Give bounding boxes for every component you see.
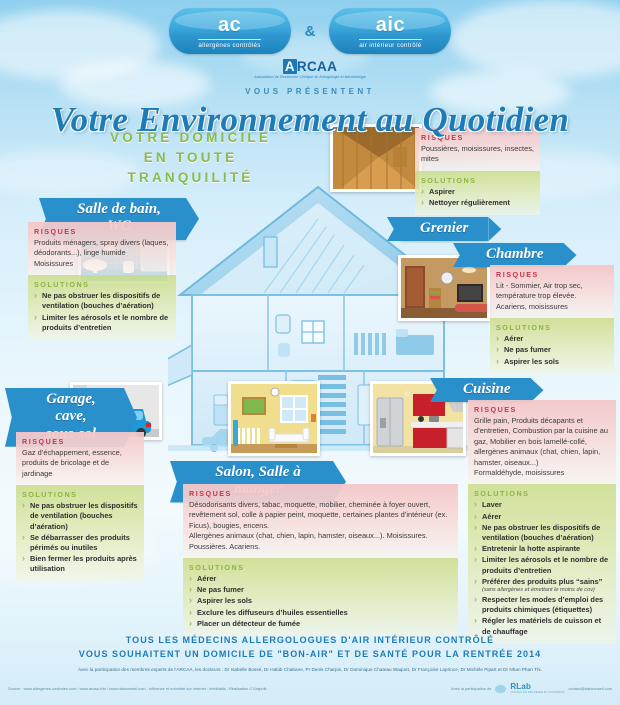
chambre-risks-text-italic: Acariens, moisissures bbox=[496, 302, 608, 312]
section-chambre: RISQUES Lit - Sommier, Air trop sec, tem… bbox=[490, 265, 614, 374]
section-cuisine: RISQUES Grille pain, Produits décapants … bbox=[468, 400, 616, 644]
logo-aic-subtitle: air intérieur contrôlé bbox=[359, 39, 421, 49]
section-cuisine-title: Cuisine bbox=[443, 378, 531, 402]
arcaa-initial: A bbox=[283, 59, 297, 74]
ribbon-tip-right bbox=[531, 378, 544, 402]
page-subtitle-line-1: VOTRE DOMICILE bbox=[110, 128, 271, 148]
solution-text: Aérer bbox=[482, 512, 501, 521]
cuisine-risks-text-italic: Formaldéhyde, moisissures bbox=[474, 468, 610, 478]
solution-text: Aspirer les sols bbox=[504, 357, 559, 366]
list-item: Respecter les modes d’emploi des produit… bbox=[474, 595, 610, 615]
sdb-risks-text-italic: Moisissures bbox=[34, 259, 170, 269]
section-chambre-title: Chambre bbox=[466, 243, 564, 267]
sdb-risks-block: RISQUES Produits ménagers, spray divers … bbox=[28, 222, 176, 275]
cuisine-solutions-list: Laver Aérer Ne pas obstruer les disposit… bbox=[474, 500, 610, 636]
solutions-label: SOLUTIONS bbox=[34, 280, 170, 289]
footer-contact-email[interactable]: contact@rlabconseil.com bbox=[568, 686, 612, 691]
solution-text: Se débarrasser des produits périmés ou i… bbox=[30, 533, 130, 552]
cuisine-solutions-block: SOLUTIONS Laver Aérer Ne pas obstruer le… bbox=[468, 484, 616, 643]
solution-text: Placer un détecteur de fumée bbox=[197, 619, 300, 628]
ampersand: & bbox=[305, 23, 316, 40]
list-item: Aérer bbox=[496, 334, 608, 344]
solution-text: Nettoyer régulièrement bbox=[429, 198, 510, 207]
section-garage: RISQUES Gaz d’échappement, essence, prod… bbox=[16, 432, 144, 582]
footer-rlab: Avec la participation de RLab CONSEIL EN… bbox=[451, 683, 612, 694]
ribbon-cuisine: Cuisine bbox=[443, 378, 531, 402]
solutions-label: SOLUTIONS bbox=[421, 176, 534, 185]
page-subtitle: VOTRE DOMICILE EN TOUTE TRANQUILITÉ bbox=[110, 128, 271, 188]
list-item: Préférer des produits plus “sains”(sans … bbox=[474, 577, 610, 594]
closing-line-1: TOUS LES MÉDECINS ALLERGOLOGUES D'AIR IN… bbox=[18, 633, 602, 647]
cuisine-risks-block: RISQUES Grille pain, Produits décapants … bbox=[468, 400, 616, 484]
solution-text: Ne pas fumer bbox=[504, 345, 551, 354]
arcaa-rest: RCAA bbox=[297, 59, 337, 74]
list-item: Se débarrasser des produits périmés ou i… bbox=[22, 533, 138, 553]
solutions-label: SOLUTIONS bbox=[22, 490, 138, 499]
list-item: Exclure les diffuseurs d’huiles essentie… bbox=[189, 608, 452, 618]
arcaa-wordmark: ARCAA bbox=[0, 59, 620, 74]
list-item: Nettoyer régulièrement bbox=[421, 198, 534, 208]
solution-text: Ne pas obstruer les dispositifs de venti… bbox=[30, 501, 138, 530]
closing-line-2: VOUS SOUHAITENT UN DOMICILE DE "BON-AIR"… bbox=[18, 647, 602, 661]
page-subtitle-line-2: EN TOUTE bbox=[110, 148, 271, 168]
solution-text: Laver bbox=[482, 500, 502, 509]
grenier-risks-text: Poussières, moisissures, insectes, mites bbox=[421, 144, 534, 165]
solution-text: Ne pas fumer bbox=[197, 585, 244, 594]
arcaa-subtitle: Association de Recherche Clinique en All… bbox=[0, 75, 620, 80]
chambre-solutions-block: SOLUTIONS Aérer Ne pas fumer Aspirer les… bbox=[490, 318, 614, 374]
footer-source: Source : www.allergenes-controles.com / … bbox=[8, 686, 267, 691]
solution-text: Aspirer les sols bbox=[197, 596, 252, 605]
list-item: Ne pas obstruer les dispositifs de venti… bbox=[22, 501, 138, 532]
logo-arcaa: ARCAA Association de Recherche Clinique … bbox=[0, 59, 620, 80]
rlab-logo: RLab CONSEIL EN INFLUENCE ET NOTORIÉTÉ bbox=[510, 683, 564, 694]
section-title: Chambre bbox=[486, 246, 544, 262]
salon-solutions-block: SOLUTIONS Aérer Ne pas fumer Aspirer les… bbox=[183, 558, 458, 636]
solution-note: (sans allergènes et émettant le moins de… bbox=[482, 587, 610, 594]
risks-label: RISQUES bbox=[474, 405, 610, 414]
list-item: Aérer bbox=[474, 512, 610, 522]
list-item: Aspirer les sols bbox=[189, 596, 452, 606]
solution-text: Préférer des produits plus “sains” bbox=[482, 577, 602, 586]
list-item: Ne pas fumer bbox=[189, 585, 452, 595]
sdb-risks-text: Produits ménagers, spray divers (laques,… bbox=[34, 238, 170, 259]
ribbon-grenier: Grenier bbox=[400, 217, 488, 241]
solution-text: Entretenir la hotte aspirante bbox=[482, 544, 580, 553]
logo-aic-mark: aic bbox=[376, 15, 405, 35]
sdb-solutions-list: Ne pas obstruer les dispositifs de venti… bbox=[34, 291, 170, 333]
salon-risks-block: RISQUES Désodorisants divers, tabac, moq… bbox=[183, 484, 458, 558]
sdb-solutions-block: SOLUTIONS Ne pas obstruer les dispositif… bbox=[28, 275, 176, 340]
solution-text: Limiter les aérosols et le nombre de pro… bbox=[42, 313, 168, 332]
footer-participation-label: Avec la participation de bbox=[451, 686, 491, 691]
ribbon-tip-right bbox=[564, 243, 577, 267]
list-item: Bien fermer les produits après utilisati… bbox=[22, 554, 138, 574]
salon-risks-text-italic: Allergènes animaux (chat, chien, lapin, … bbox=[189, 531, 452, 552]
solution-text: Bien fermer les produits après utilisati… bbox=[30, 554, 137, 573]
garage-risks-text: Gaz d’échappement, essence, produits de … bbox=[22, 448, 138, 479]
salon-solutions-list: Aérer Ne pas fumer Aspirer les sols Excl… bbox=[189, 574, 452, 629]
page-subtitle-line-3: TRANQUILITÉ bbox=[110, 168, 271, 188]
list-item: Limiter les aérosols et le nombre de pro… bbox=[474, 555, 610, 575]
section-grenier: RISQUES Poussières, moisissures, insecte… bbox=[415, 128, 540, 215]
list-item: Limiter les aérosols et le nombre de pro… bbox=[34, 313, 170, 333]
list-item: Laver bbox=[474, 500, 610, 510]
garage-risks-block: RISQUES Gaz d’échappement, essence, prod… bbox=[16, 432, 144, 485]
header: ac allergènes contrôlés & aic air intéri… bbox=[0, 0, 620, 140]
closing-message: TOUS LES MÉDECINS ALLERGOLOGUES D'AIR IN… bbox=[0, 633, 620, 672]
grenier-solutions-list: Aspirer Nettoyer régulièrement bbox=[421, 187, 534, 208]
cloud-icon bbox=[495, 685, 506, 693]
salon-risks-text: Désodorisants divers, tabac, moquette, m… bbox=[189, 500, 452, 531]
list-item: Placer un détecteur de fumée bbox=[189, 619, 452, 629]
logo-allergenes-controles: ac allergènes contrôlés bbox=[169, 8, 291, 54]
rlab-wordmark: RLab bbox=[510, 682, 531, 691]
section-title: Grenier bbox=[420, 220, 468, 236]
solution-text: Aérer bbox=[504, 334, 523, 343]
risks-label: RISQUES bbox=[22, 437, 138, 446]
logo-row: ac allergènes contrôlés & aic air intéri… bbox=[0, 8, 620, 54]
chambre-solutions-list: Aérer Ne pas fumer Aspirer les sols bbox=[496, 334, 608, 367]
solution-text: Limiter les aérosols et le nombre de pro… bbox=[482, 555, 608, 574]
footer: Source : www.allergenes-controles.com / … bbox=[0, 672, 620, 705]
logo-ac-mark: ac bbox=[218, 15, 241, 35]
page-title: Votre Environnement au Quotidien bbox=[0, 100, 620, 140]
solutions-label: SOLUTIONS bbox=[474, 489, 610, 498]
list-item: Entretenir la hotte aspirante bbox=[474, 544, 610, 554]
section-grenier-title: Grenier bbox=[400, 217, 488, 241]
cuisine-risks-text: Grille pain, Produits décapants et d’ent… bbox=[474, 416, 610, 468]
garage-solutions-list: Ne pas obstruer les dispositifs de venti… bbox=[22, 501, 138, 574]
section-salle-de-bain: RISQUES Produits ménagers, spray divers … bbox=[28, 222, 176, 340]
list-item: Aspirer bbox=[421, 187, 534, 197]
solution-text: Exclure les diffuseurs d’huiles essentie… bbox=[197, 608, 348, 617]
photo-salon bbox=[228, 381, 320, 456]
presentent-label: VOUS PRÉSENTENT bbox=[0, 87, 620, 96]
section-salon: RISQUES Désodorisants divers, tabac, moq… bbox=[183, 484, 458, 636]
solution-text: Aspirer bbox=[429, 187, 455, 196]
list-item: Ne pas obstruer les dispositifs de venti… bbox=[34, 291, 170, 311]
chambre-risks-block: RISQUES Lit - Sommier, Air trop sec, tem… bbox=[490, 265, 614, 318]
list-item: Aspirer les sols bbox=[496, 357, 608, 367]
rlab-tagline: CONSEIL EN INFLUENCE ET NOTORIÉTÉ bbox=[510, 691, 564, 694]
risks-label: RISQUES bbox=[189, 489, 452, 498]
solutions-label: SOLUTIONS bbox=[496, 323, 608, 332]
grenier-solutions-block: SOLUTIONS Aspirer Nettoyer régulièrement bbox=[415, 171, 540, 215]
list-item: Aérer bbox=[189, 574, 452, 584]
ribbon-tip-right bbox=[488, 217, 501, 241]
solutions-label: SOLUTIONS bbox=[189, 563, 452, 572]
risks-label: RISQUES bbox=[34, 227, 170, 236]
solution-text: Aérer bbox=[197, 574, 216, 583]
solution-text: Ne pas obstruer les dispositifs de venti… bbox=[42, 291, 160, 310]
risks-label: RISQUES bbox=[496, 270, 608, 279]
solution-text: Respecter les modes d’emploi des produit… bbox=[482, 595, 603, 614]
logo-ac-subtitle: allergènes contrôlés bbox=[198, 39, 260, 49]
logo-air-interieur-controle: aic air intérieur contrôlé bbox=[329, 8, 451, 54]
garage-solutions-block: SOLUTIONS Ne pas obstruer les dispositif… bbox=[16, 485, 144, 581]
section-title: Cuisine bbox=[463, 381, 511, 397]
ribbon-chambre: Chambre bbox=[466, 243, 564, 267]
list-item: Ne pas obstruer les dispositifs de venti… bbox=[474, 523, 610, 543]
chambre-risks-text: Lit - Sommier, Air trop sec, température… bbox=[496, 281, 608, 302]
list-item: Ne pas fumer bbox=[496, 345, 608, 355]
solution-text: Ne pas obstruer les dispositifs de venti… bbox=[482, 523, 600, 542]
